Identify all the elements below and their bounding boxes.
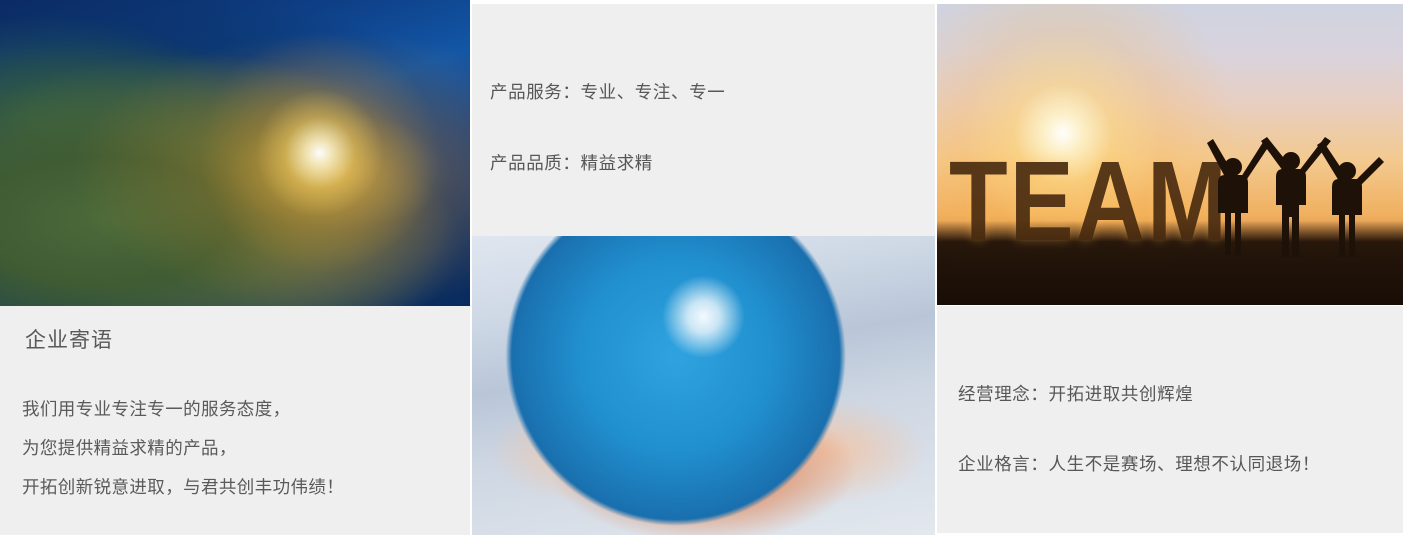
company-motto-line: 企业格言：人生不是赛场、理想不认同退场！ [958, 451, 1320, 476]
cheering-people-silhouette-icon [1195, 127, 1385, 257]
company-culture-banner: 企业寄语 我们用专业专注专一的服务态度， 为您提供精益求精的产品， 开拓创新锐意… [0, 0, 1410, 545]
corporate-message-line-1: 我们用专业专注专一的服务态度， [22, 396, 291, 421]
team-sunset-photo: TEAM [937, 4, 1403, 305]
corporate-message-line-3: 开拓创新锐意进取，与君共创丰功伟绩！ [22, 474, 344, 499]
product-quality-line: 产品品质：精益求精 [490, 150, 653, 175]
product-service-line: 产品服务：专业、专注、专一 [490, 79, 725, 104]
management-philosophy-line: 经营理念：开拓进取共创辉煌 [958, 381, 1193, 406]
management-philosophy-panel [937, 306, 1403, 533]
corporate-message-line-2: 为您提供精益求精的产品， [22, 435, 237, 460]
product-statement-panel [472, 4, 935, 236]
corporate-message-heading: 企业寄语 [25, 324, 113, 354]
hands-holding-globe-photo [472, 236, 935, 535]
earth-sunrise-photo [0, 0, 470, 306]
team-letters-text: TEAM [949, 146, 1229, 259]
